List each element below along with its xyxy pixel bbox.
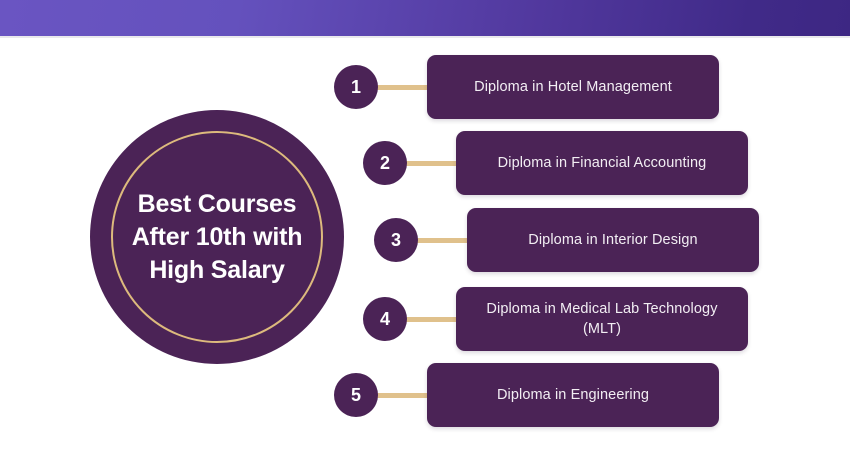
item-number-badge: 1 bbox=[334, 65, 378, 109]
list-item[interactable]: 3 Diploma in Interior Design bbox=[374, 208, 759, 272]
item-number-badge: 2 bbox=[363, 141, 407, 185]
connector-line bbox=[404, 161, 460, 166]
item-number-badge: 3 bbox=[374, 218, 418, 262]
list-item[interactable]: 5 Diploma in Engineering bbox=[334, 363, 719, 427]
course-card[interactable]: Diploma in Interior Design bbox=[467, 208, 759, 272]
item-number-badge: 4 bbox=[363, 297, 407, 341]
infographic-canvas: theknowledgeacademy Best Courses After 1… bbox=[0, 0, 850, 450]
connector-line bbox=[375, 85, 431, 90]
item-number-badge: 5 bbox=[334, 373, 378, 417]
list-item[interactable]: 4 Diploma in Medical Lab Technology (MLT… bbox=[363, 287, 748, 351]
course-card[interactable]: Diploma in Financial Accounting bbox=[456, 131, 748, 195]
course-card[interactable]: Diploma in Medical Lab Technology (MLT) bbox=[456, 287, 748, 351]
list-item[interactable]: 2 Diploma in Financial Accounting bbox=[363, 131, 748, 195]
connector-line bbox=[404, 317, 460, 322]
page-title: Best Courses After 10th with High Salary bbox=[122, 188, 312, 287]
course-card[interactable]: Diploma in Hotel Management bbox=[427, 55, 719, 119]
list-item[interactable]: 1 Diploma in Hotel Management bbox=[334, 55, 719, 119]
connector-line bbox=[375, 393, 431, 398]
course-card[interactable]: Diploma in Engineering bbox=[427, 363, 719, 427]
connector-line bbox=[415, 238, 471, 243]
